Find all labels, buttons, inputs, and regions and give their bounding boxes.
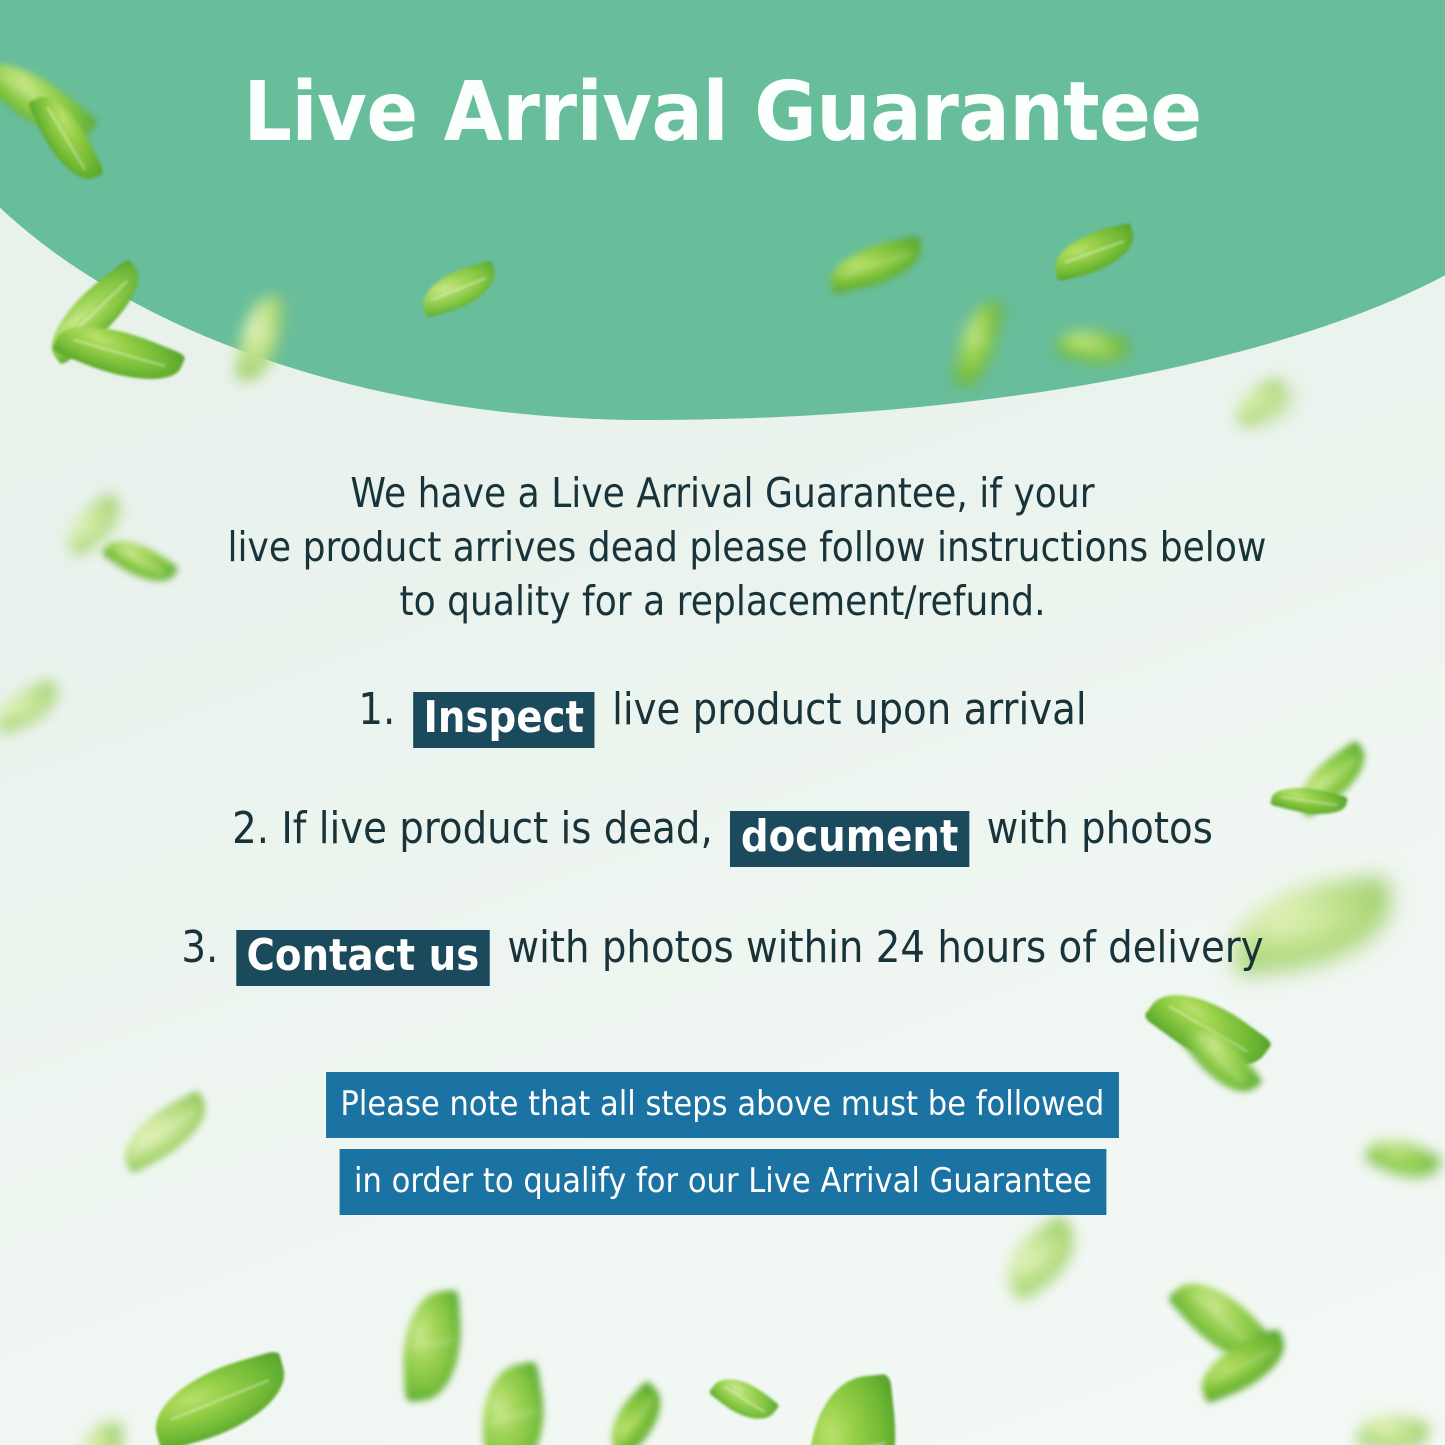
leaf-decoration <box>73 1421 122 1445</box>
step-item-3: 3. Contact us with photos within 24 hour… <box>87 922 1359 978</box>
step-highlight-inspect[interactable]: Inspect <box>413 692 595 748</box>
step-text-after-1: live product upon arrival <box>612 684 1086 735</box>
step-highlight-contact-us[interactable]: Contact us <box>236 930 490 986</box>
step-text-after-3: with photos within 24 hours of delivery <box>507 922 1263 973</box>
note-banner-group: Please note that all steps above must be… <box>0 1072 1445 1215</box>
intro-line-3: to quality for a replacement/refund. <box>228 574 1218 628</box>
header-curved-banner <box>0 0 1445 420</box>
leaf-decoration <box>992 1214 1089 1302</box>
page-title: Live Arrival Guarantee <box>51 72 1395 154</box>
step-number-1: 1. <box>358 684 395 735</box>
intro-line-2: live product arrives dead please follow … <box>228 520 1218 574</box>
step-highlight-document[interactable]: document <box>730 811 969 867</box>
intro-paragraph: We have a Live Arrival Guarantee, if you… <box>228 466 1218 628</box>
note-banner-line-1: Please note that all steps above must be… <box>326 1072 1119 1138</box>
leaf-decoration <box>471 1361 554 1445</box>
leaf-decoration <box>597 1380 676 1445</box>
steps-list: 1. Inspect live product upon arrival 2. … <box>0 684 1445 1041</box>
leaf-decoration <box>144 1350 297 1445</box>
note-banner-line-2: in order to qualify for our Live Arrival… <box>339 1149 1106 1215</box>
leaf-decoration <box>708 1366 779 1432</box>
step-item-1: 1. Inspect live product upon arrival <box>87 684 1359 740</box>
leaf-decoration <box>1355 1405 1430 1445</box>
step-number-2: 2. <box>232 803 269 854</box>
leaf-decoration <box>101 528 179 595</box>
step-item-2: 2. If live product is dead, document wit… <box>87 803 1359 859</box>
step-text-after-2: with photos <box>987 803 1213 854</box>
step-text-before-2: If live product is dead, <box>281 803 712 854</box>
intro-line-1: We have a Live Arrival Guarantee, if you… <box>228 466 1218 520</box>
step-number-3: 3. <box>181 922 218 973</box>
live-arrival-guarantee-poster: Live Arrival Guarantee We have a Live Ar… <box>0 0 1445 1445</box>
leaf-decoration <box>798 1374 905 1445</box>
leaf-decoration <box>398 1290 465 1402</box>
